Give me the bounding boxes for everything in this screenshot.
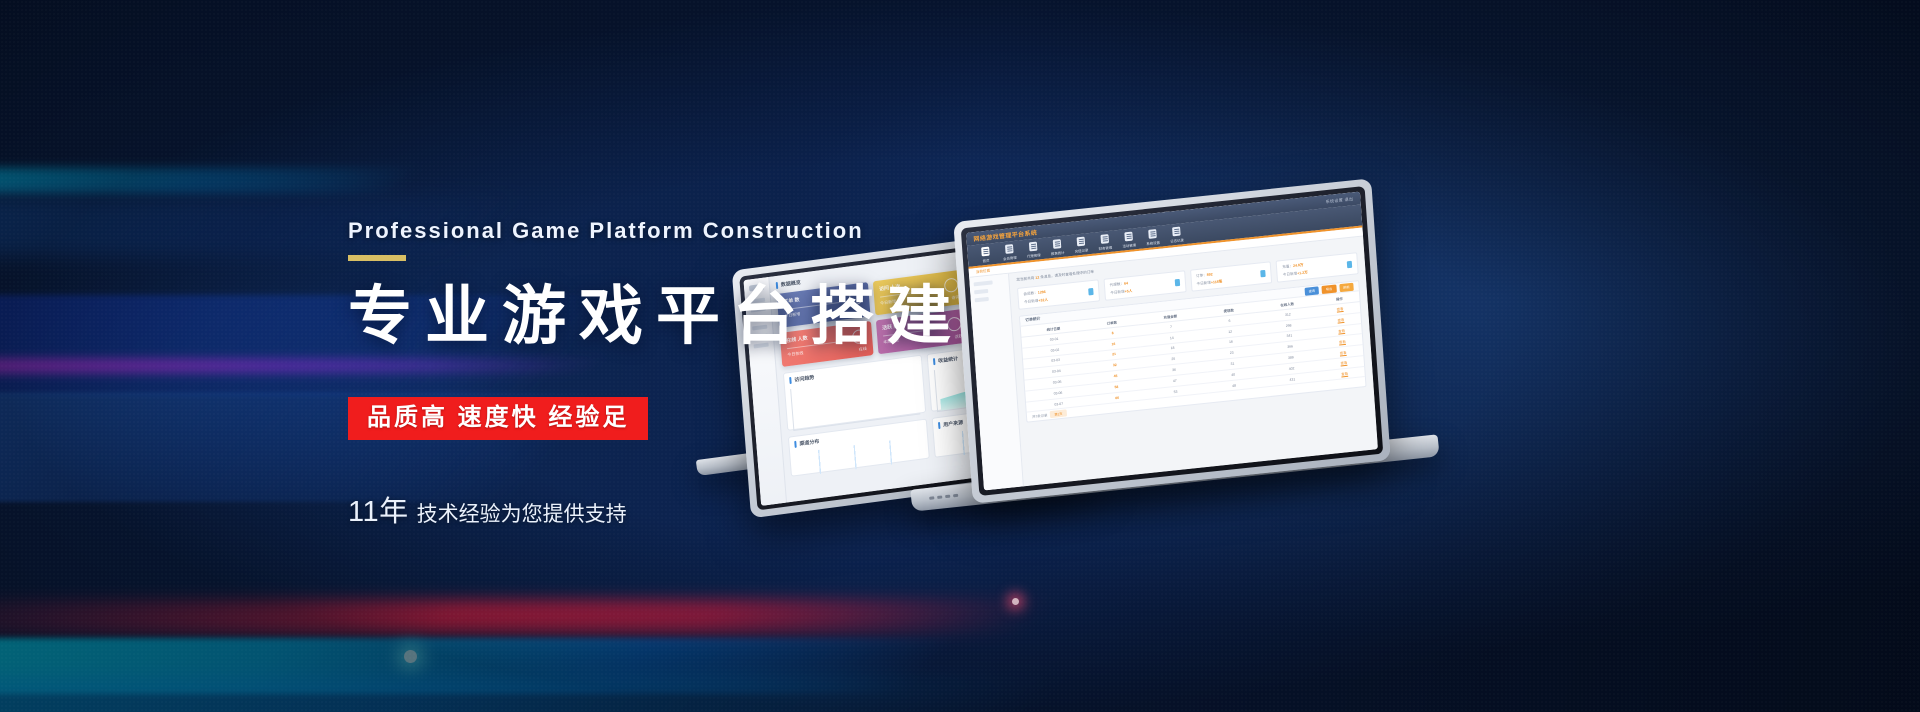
refresh-button[interactable]: 刷新 xyxy=(1339,282,1354,291)
chart-icon xyxy=(1347,261,1352,269)
summary-stat-value: 24.8万 xyxy=(1293,263,1304,268)
page-title: 专业游戏平台搭建 xyxy=(348,281,1068,353)
status-badge: 品质高 速度快 经验足 xyxy=(348,397,648,441)
toolbar-item-label: 活动管理 xyxy=(1122,243,1136,248)
finance-icon xyxy=(1100,234,1109,244)
hero-banner: Professional Game Platform Construction … xyxy=(0,0,1920,712)
years-caption: 技术经验为您提供支持 xyxy=(417,503,627,526)
toolbar-item-label: 日志记录 xyxy=(1170,238,1184,243)
chart-icon xyxy=(1174,279,1179,287)
activity-icon xyxy=(1124,231,1133,241)
app-header-actions[interactable]: 系统设置 退出 xyxy=(1325,196,1353,205)
recharge-icon xyxy=(1077,236,1086,246)
summary-stat-sublabel: 今日新增 xyxy=(1196,281,1211,286)
experience-line: 11年技术经验为您提供支持 xyxy=(348,488,1068,530)
summary-stat-value: 64 xyxy=(1124,281,1128,285)
toolbar-item-label: 充值记录 xyxy=(1075,248,1089,253)
summary-stat-sublabel: 今日新增 xyxy=(1283,272,1298,277)
summary-stat-label: 充值： xyxy=(1282,264,1293,269)
summary-stat-value: 892 xyxy=(1207,272,1213,277)
toolbar-item-activity[interactable]: 活动管理 xyxy=(1116,230,1141,248)
export-button[interactable]: 导出 xyxy=(1322,284,1337,293)
toolbar-item-recharge[interactable]: 充值记录 xyxy=(1069,235,1094,253)
toolbar-item-label: 财务管理 xyxy=(1099,245,1113,250)
eyebrow-underline xyxy=(348,255,406,261)
summary-stat[interactable]: 订单：892 今日新增+118笔 xyxy=(1190,261,1273,292)
toolbar-item-finance[interactable]: 财务管理 xyxy=(1092,233,1117,251)
summary-stat-delta: +5人 xyxy=(1124,289,1132,294)
log-icon xyxy=(1172,226,1181,236)
years-value: 11年 xyxy=(348,496,409,528)
query-button[interactable]: 查询 xyxy=(1304,286,1319,295)
summary-stat-sublabel: 今日新增 xyxy=(1110,290,1125,295)
summary-stat-delta: +1.2万 xyxy=(1297,270,1308,275)
hero-copy: Professional Game Platform Construction … xyxy=(348,218,1068,530)
summary-stat[interactable]: 代理数：64 今日新增+5人 xyxy=(1103,270,1186,301)
eyebrow-text: Professional Game Platform Construction xyxy=(348,218,1068,244)
gear-icon xyxy=(1148,229,1157,239)
summary-stat-label: 订单： xyxy=(1196,273,1207,278)
chart-icon xyxy=(1260,270,1265,278)
summary-stat-label: 代理数： xyxy=(1110,282,1125,287)
toolbar-item-label: 系统设置 xyxy=(1146,240,1160,245)
toolbar-item-settings[interactable]: 系统设置 xyxy=(1140,228,1165,246)
summary-stat-delta: +118笔 xyxy=(1211,279,1223,284)
toolbar-item-logs[interactable]: 日志记录 xyxy=(1164,225,1189,243)
summary-stat[interactable]: 充值：24.8万 今日新增+1.2万 xyxy=(1276,252,1359,283)
chart-icon xyxy=(1088,288,1093,296)
